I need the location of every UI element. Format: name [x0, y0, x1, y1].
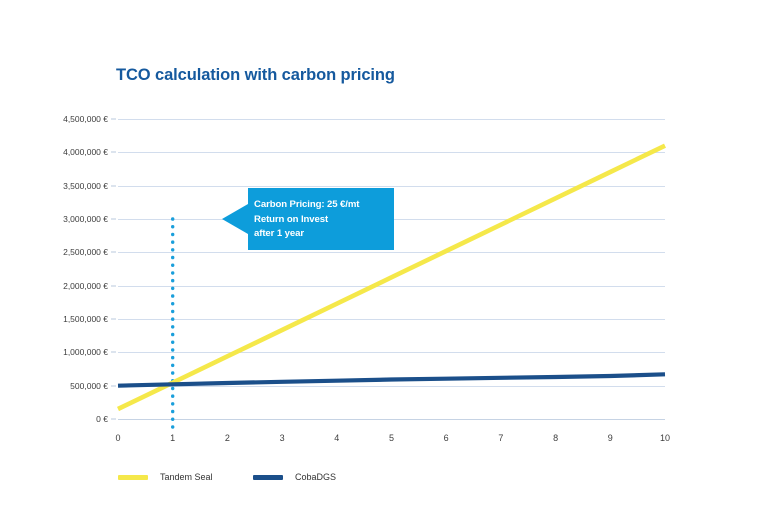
callout-line-3: after 1 year	[254, 227, 388, 242]
chart-legend: Tandem Seal CobaDGS	[118, 472, 336, 482]
y-axis-tick-label: 4,000,000 €	[63, 147, 108, 157]
y-axis-tick-label: 2,000,000 €	[63, 281, 108, 291]
x-axis-tick-label: 9	[608, 433, 613, 443]
legend-label-tandem-seal: Tandem Seal	[160, 472, 213, 482]
carbon-pricing-callout: Carbon Pricing: 25 €/mt Return on Invest…	[222, 188, 394, 250]
y-axis-tick-mark	[111, 119, 116, 120]
x-axis-tick-label: 2	[225, 433, 230, 443]
callout-line-1: Carbon Pricing: 25 €/mt	[254, 198, 388, 213]
y-axis-tick-mark	[111, 185, 116, 186]
y-axis-tick-mark	[111, 285, 116, 286]
series-line-tandem-seal	[118, 146, 665, 409]
series-layer	[118, 119, 665, 419]
x-axis-tick-label: 6	[444, 433, 449, 443]
y-axis-tick-mark	[111, 252, 116, 253]
legend-swatch-tandem-seal	[118, 475, 148, 480]
y-axis-tick-label: 4,500,000 €	[63, 114, 108, 124]
legend-item-tandem-seal: Tandem Seal	[118, 472, 253, 482]
series-line-cobadgs	[118, 374, 665, 385]
x-axis-tick-label: 3	[280, 433, 285, 443]
y-axis-tick-mark	[111, 385, 116, 386]
gridline	[118, 419, 665, 420]
y-axis-tick-mark	[111, 219, 116, 220]
y-axis-tick-label: 500,000 €	[70, 381, 108, 391]
y-axis-tick-label: 3,500,000 €	[63, 181, 108, 191]
y-axis-tick-mark	[111, 352, 116, 353]
callout-text: Carbon Pricing: 25 €/mt Return on Invest…	[254, 198, 388, 242]
y-axis-tick-label: 0 €	[96, 414, 108, 424]
x-axis-tick-label: 0	[115, 433, 120, 443]
x-axis-tick-label: 8	[553, 433, 558, 443]
chart-canvas: 0 €500,000 €1,000,000 €1,500,000 €2,000,…	[0, 0, 768, 523]
legend-swatch-cobadgs	[253, 475, 283, 480]
y-axis-tick-label: 1,000,000 €	[63, 347, 108, 357]
y-axis-tick-label: 1,500,000 €	[63, 314, 108, 324]
chart-page: TCO calculation with carbon pricing 0 €5…	[0, 0, 768, 523]
y-axis-tick-mark	[111, 319, 116, 320]
plot-area: 0 €500,000 €1,000,000 €1,500,000 €2,000,…	[118, 119, 665, 419]
y-axis-tick-label: 2,500,000 €	[63, 247, 108, 257]
callout-line-2: Return on Invest	[254, 213, 388, 228]
x-axis-tick-label: 10	[660, 433, 670, 443]
x-axis-tick-label: 1	[170, 433, 175, 443]
x-axis-tick-label: 5	[389, 433, 394, 443]
legend-item-cobadgs: CobaDGS	[253, 472, 336, 482]
y-axis-tick-label: 3,000,000 €	[63, 214, 108, 224]
legend-label-cobadgs: CobaDGS	[295, 472, 336, 482]
y-axis-tick-mark	[111, 419, 116, 420]
y-axis-tick-mark	[111, 152, 116, 153]
x-axis-tick-label: 4	[334, 433, 339, 443]
x-axis-tick-label: 7	[498, 433, 503, 443]
